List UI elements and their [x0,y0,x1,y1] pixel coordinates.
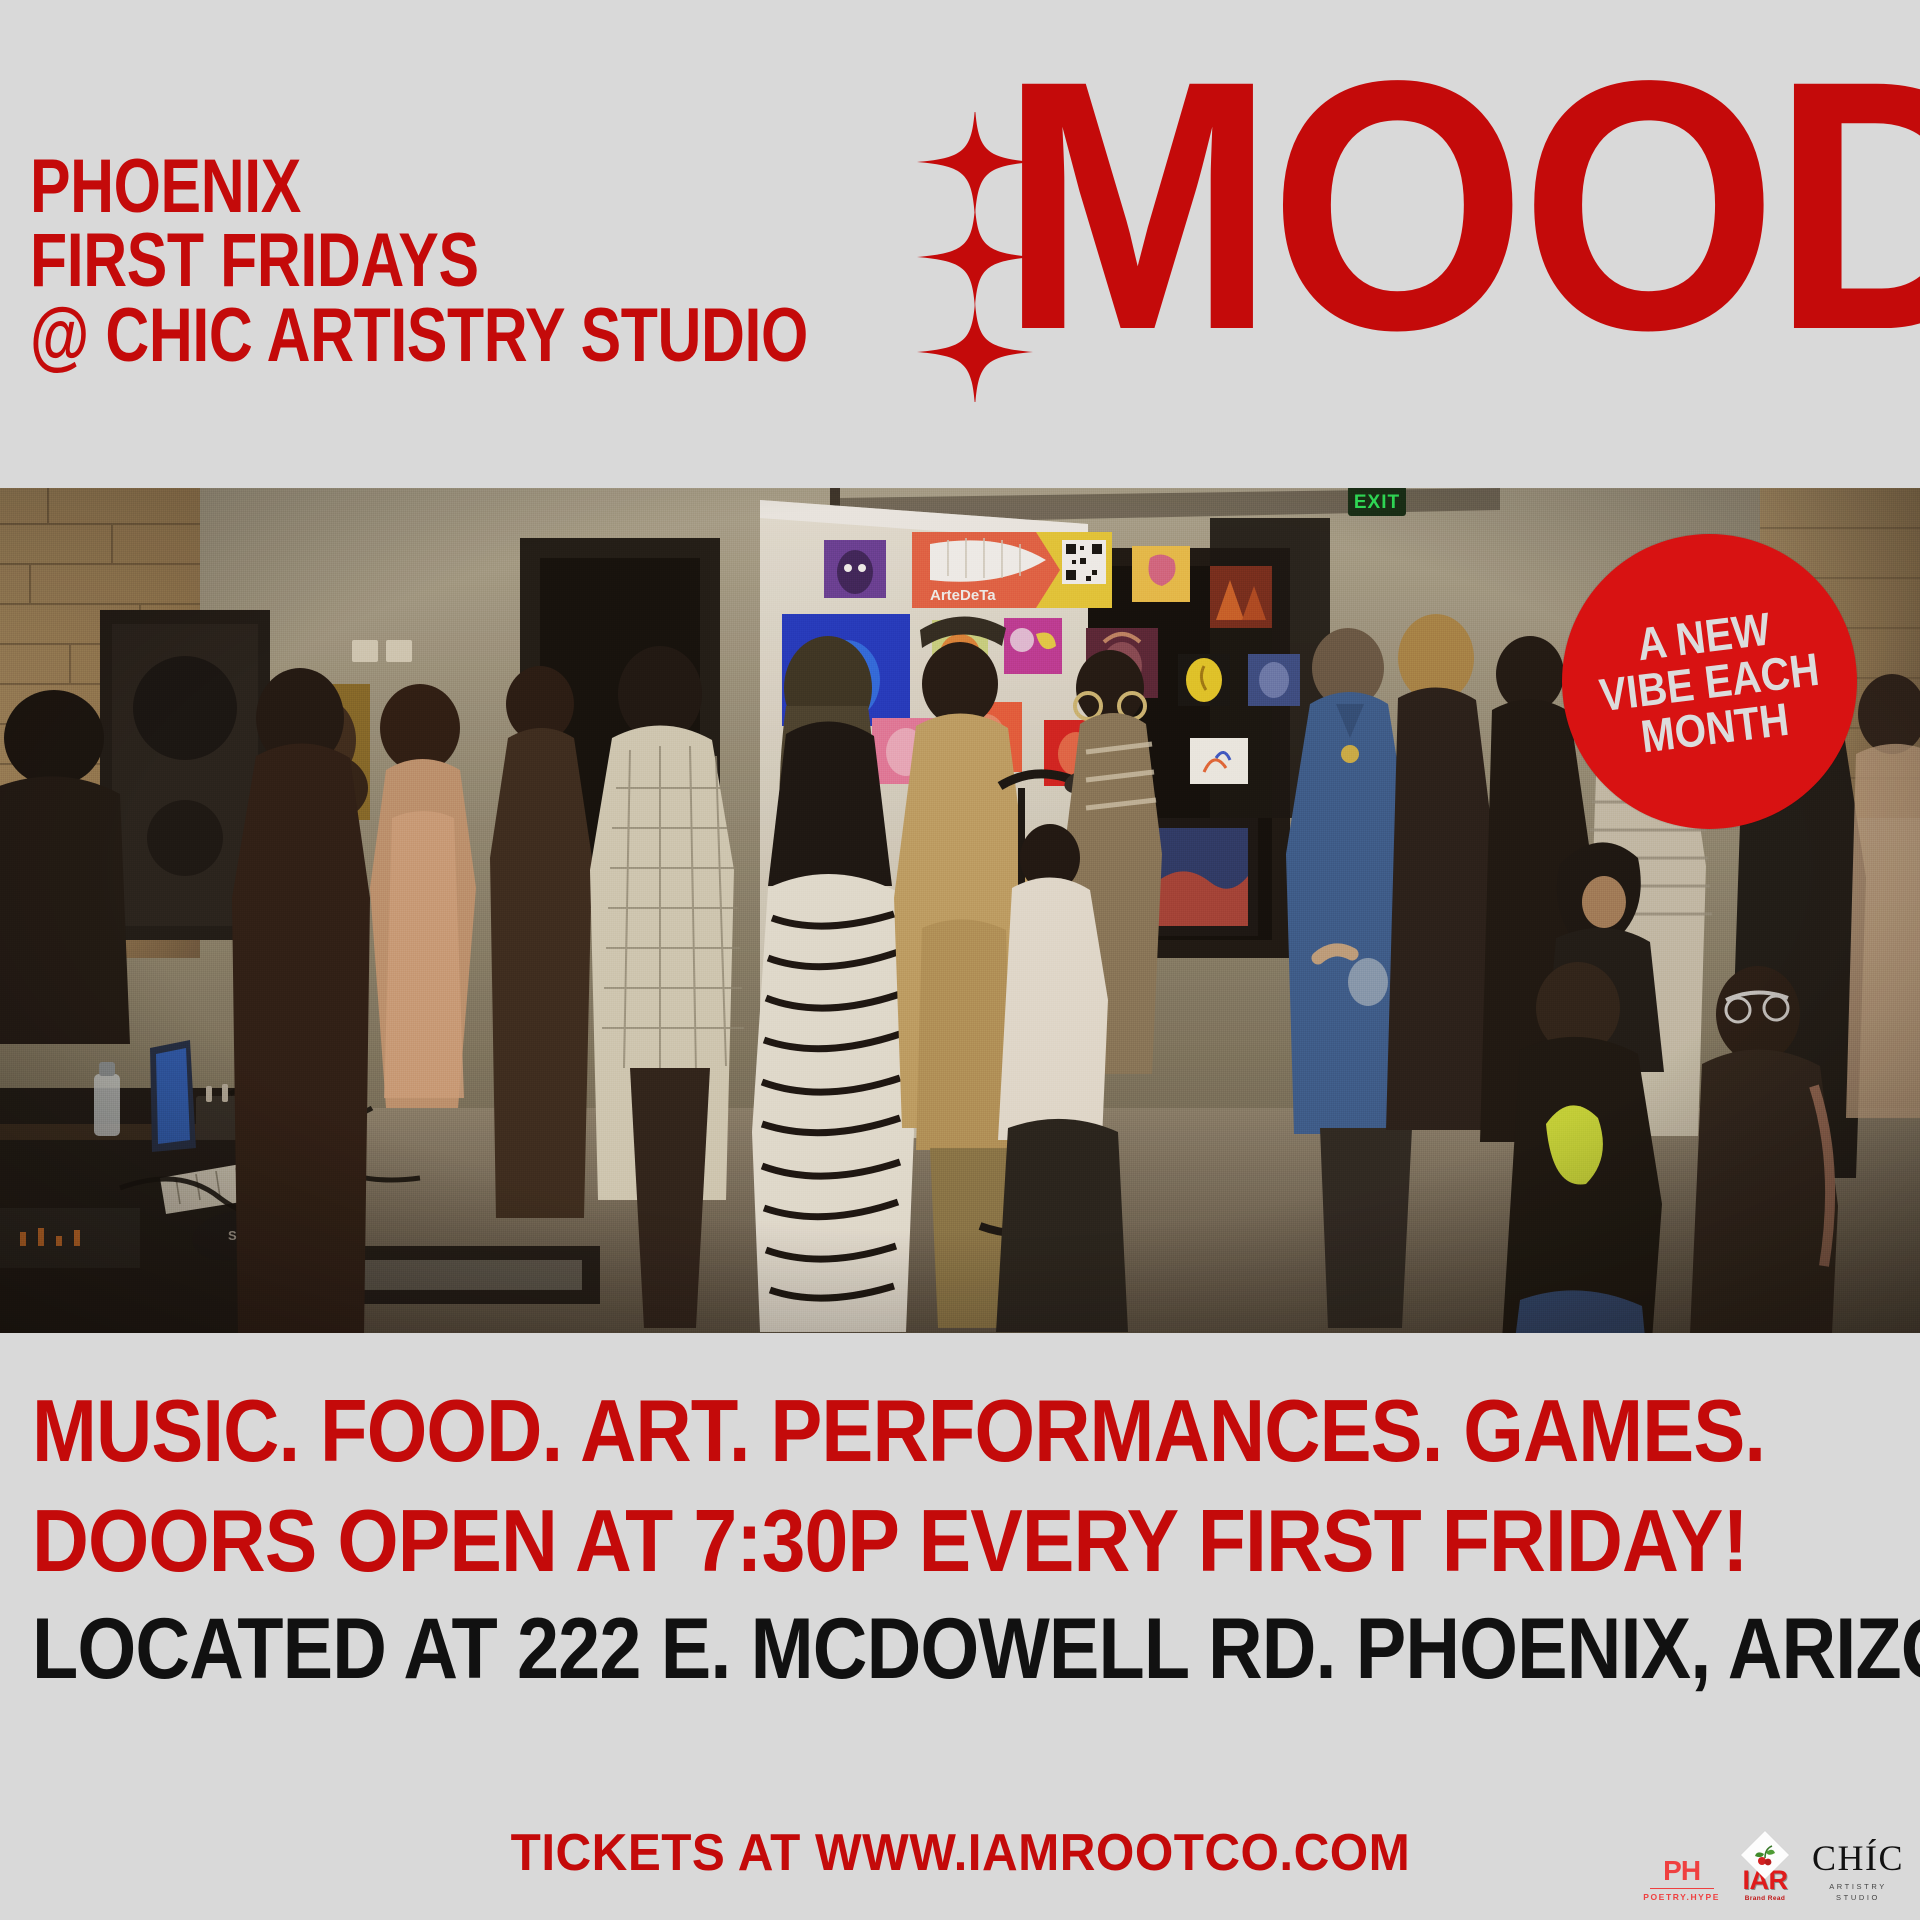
badge-text: A NEW VIBE EACH MONTH [1592,600,1828,764]
logo-chic-artistry-studio[interactable]: CHÍC ARTISTRY STUDIO [1810,1840,1906,1902]
chic-line-1: ARTISTRY [1810,1882,1906,1891]
header-eyebrow-text: PHOENIX FIRST FRIDAYS @ CHIC ARTISTRY ST… [30,150,808,373]
page-title: MOOD [1000,68,1920,345]
event-flyer: PHOENIX FIRST FRIDAYS @ CHIC ARTISTRY ST… [0,0,1920,1920]
eyebrow-line-1: PHOENIX [30,150,808,224]
sponsor-logos: PH POETRY.HYPE IAR Brand Read CHÍC ARTIS… [1643,1838,1906,1902]
logo-poetry-hype[interactable]: PH POETRY.HYPE [1643,1857,1720,1903]
flyer-header: PHOENIX FIRST FRIDAYS @ CHIC ARTISTRY ST… [0,0,1920,490]
poetry-hype-monogram: PH [1643,1857,1720,1885]
tickets-line[interactable]: TICKETS AT WWW.IAMROOTCO.COM [0,1823,1920,1883]
poetry-hype-name: POETRY.HYPE [1643,1892,1720,1902]
features-line: MUSIC. FOOD. ART. PERFORMANCES. GAMES. [32,1380,1765,1482]
doors-open-line: DOORS OPEN AT 7:30P EVERY FIRST FRIDAY! [32,1490,1748,1592]
eyebrow-line-2: FIRST FRIDAYS [30,224,808,298]
chic-wordmark: CHÍC [1810,1840,1906,1876]
address-line: LOCATED AT 222 E. MCDOWELL RD. PHOENIX, … [32,1600,1920,1699]
divider [1650,1888,1714,1890]
chic-line-2: STUDIO [1810,1893,1906,1902]
iar-tagline: Brand Read [1734,1895,1796,1902]
status-badge: A NEW VIBE EACH MONTH [1562,534,1857,829]
eyebrow-line-3: @ CHIC ARTISTRY STUDIO [30,299,808,373]
tickets-url-text: TICKETS AT WWW.IAMROOTCO.COM [510,1823,1410,1883]
logo-iar[interactable]: IAR Brand Read [1734,1838,1796,1902]
